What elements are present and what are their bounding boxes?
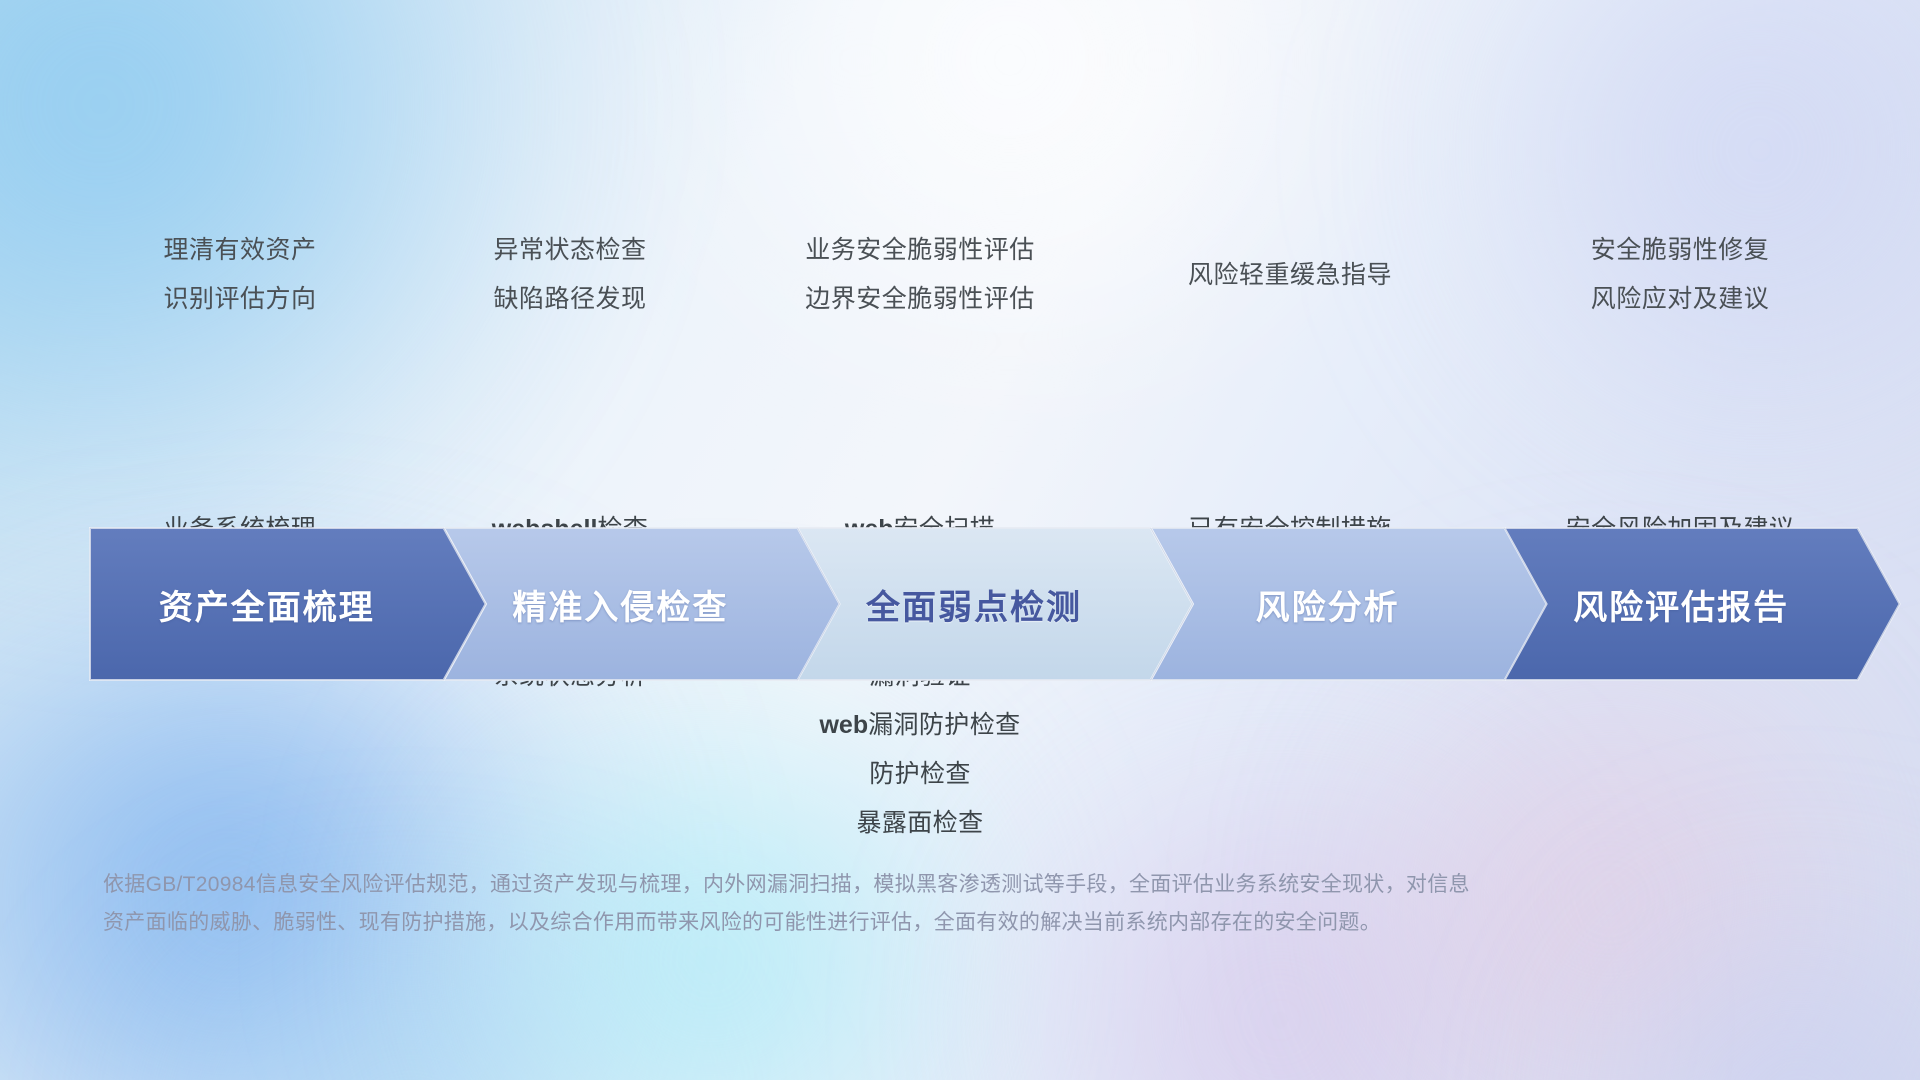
chevron-shape xyxy=(444,528,846,686)
process-stage-1[interactable]: 资产全面梳理 xyxy=(90,528,486,680)
stage-3-top-item: 边界安全脆弱性评估 xyxy=(805,275,1035,324)
bottom-item-text: 漏洞防护检查 xyxy=(868,711,1020,739)
stage-3-bottom-item: 暴露面检查 xyxy=(735,799,1105,848)
stage-3-bottom-item: web漏洞防护检查 xyxy=(735,701,1105,750)
bottom-item-text: 防护检查 xyxy=(869,760,971,788)
stage-2-top-item: 缺陷路径发现 xyxy=(493,275,646,324)
stage-1-top-item: 识别评估方向 xyxy=(163,275,316,324)
stage-3-top-labels: 业务安全脆弱性评估边界安全脆弱性评估 xyxy=(735,225,1105,325)
chevron-shape xyxy=(1151,528,1553,686)
process-chevron-band: 资产全面梳理精准入侵检查全面弱点检测风险分析风险评估报告 xyxy=(0,528,1920,680)
bottom-item-keyword: web xyxy=(819,711,868,739)
chevron-shape xyxy=(797,528,1199,686)
slide-canvas: 理清有效资产识别评估方向 异常状态检查缺陷路径发现 业务安全脆弱性评估边界安全脆… xyxy=(0,0,1920,1080)
process-stage-5[interactable]: 风险评估报告 xyxy=(1504,528,1900,680)
process-stage-3[interactable]: 全面弱点检测 xyxy=(797,528,1193,680)
stage-3-top-item: 业务安全脆弱性评估 xyxy=(805,226,1035,275)
stage-5-top-item: 安全脆弱性修复 xyxy=(1591,226,1770,275)
stage-4-top-labels: 风险轻重缓急指导 xyxy=(1110,225,1470,325)
stage-5-top-item: 风险应对及建议 xyxy=(1591,275,1770,324)
footer-description: 依据GB/T20984信息安全风险评估规范，通过资产发现与梳理，内外网漏洞扫描，… xyxy=(103,866,1843,942)
process-stage-4[interactable]: 风险分析 xyxy=(1151,528,1547,680)
stage-4-top-item: 风险轻重缓急指导 xyxy=(1188,251,1392,300)
bottom-item-text: 暴露面检查 xyxy=(856,809,983,837)
stage-2-top-item: 异常状态检查 xyxy=(493,226,646,275)
footer-line-2: 资产面临的威胁、脆弱性、现有防护措施，以及综合作用而带来风险的可能性进行评估，全… xyxy=(103,904,1843,942)
stage-5-top-labels: 安全脆弱性修复风险应对及建议 xyxy=(1490,225,1870,325)
process-stage-2[interactable]: 精准入侵检查 xyxy=(444,528,840,680)
stage-1-top-labels: 理清有效资产识别评估方向 xyxy=(60,225,420,325)
footer-line-1: 依据GB/T20984信息安全风险评估规范，通过资产发现与梳理，内外网漏洞扫描，… xyxy=(103,866,1843,904)
stage-2-top-labels: 异常状态检查缺陷路径发现 xyxy=(400,225,740,325)
stage-3-bottom-item: 防护检查 xyxy=(735,750,1105,799)
stage-1-top-item: 理清有效资产 xyxy=(163,226,316,275)
chevron-shape xyxy=(1504,528,1906,686)
chevron-shape xyxy=(90,528,492,686)
